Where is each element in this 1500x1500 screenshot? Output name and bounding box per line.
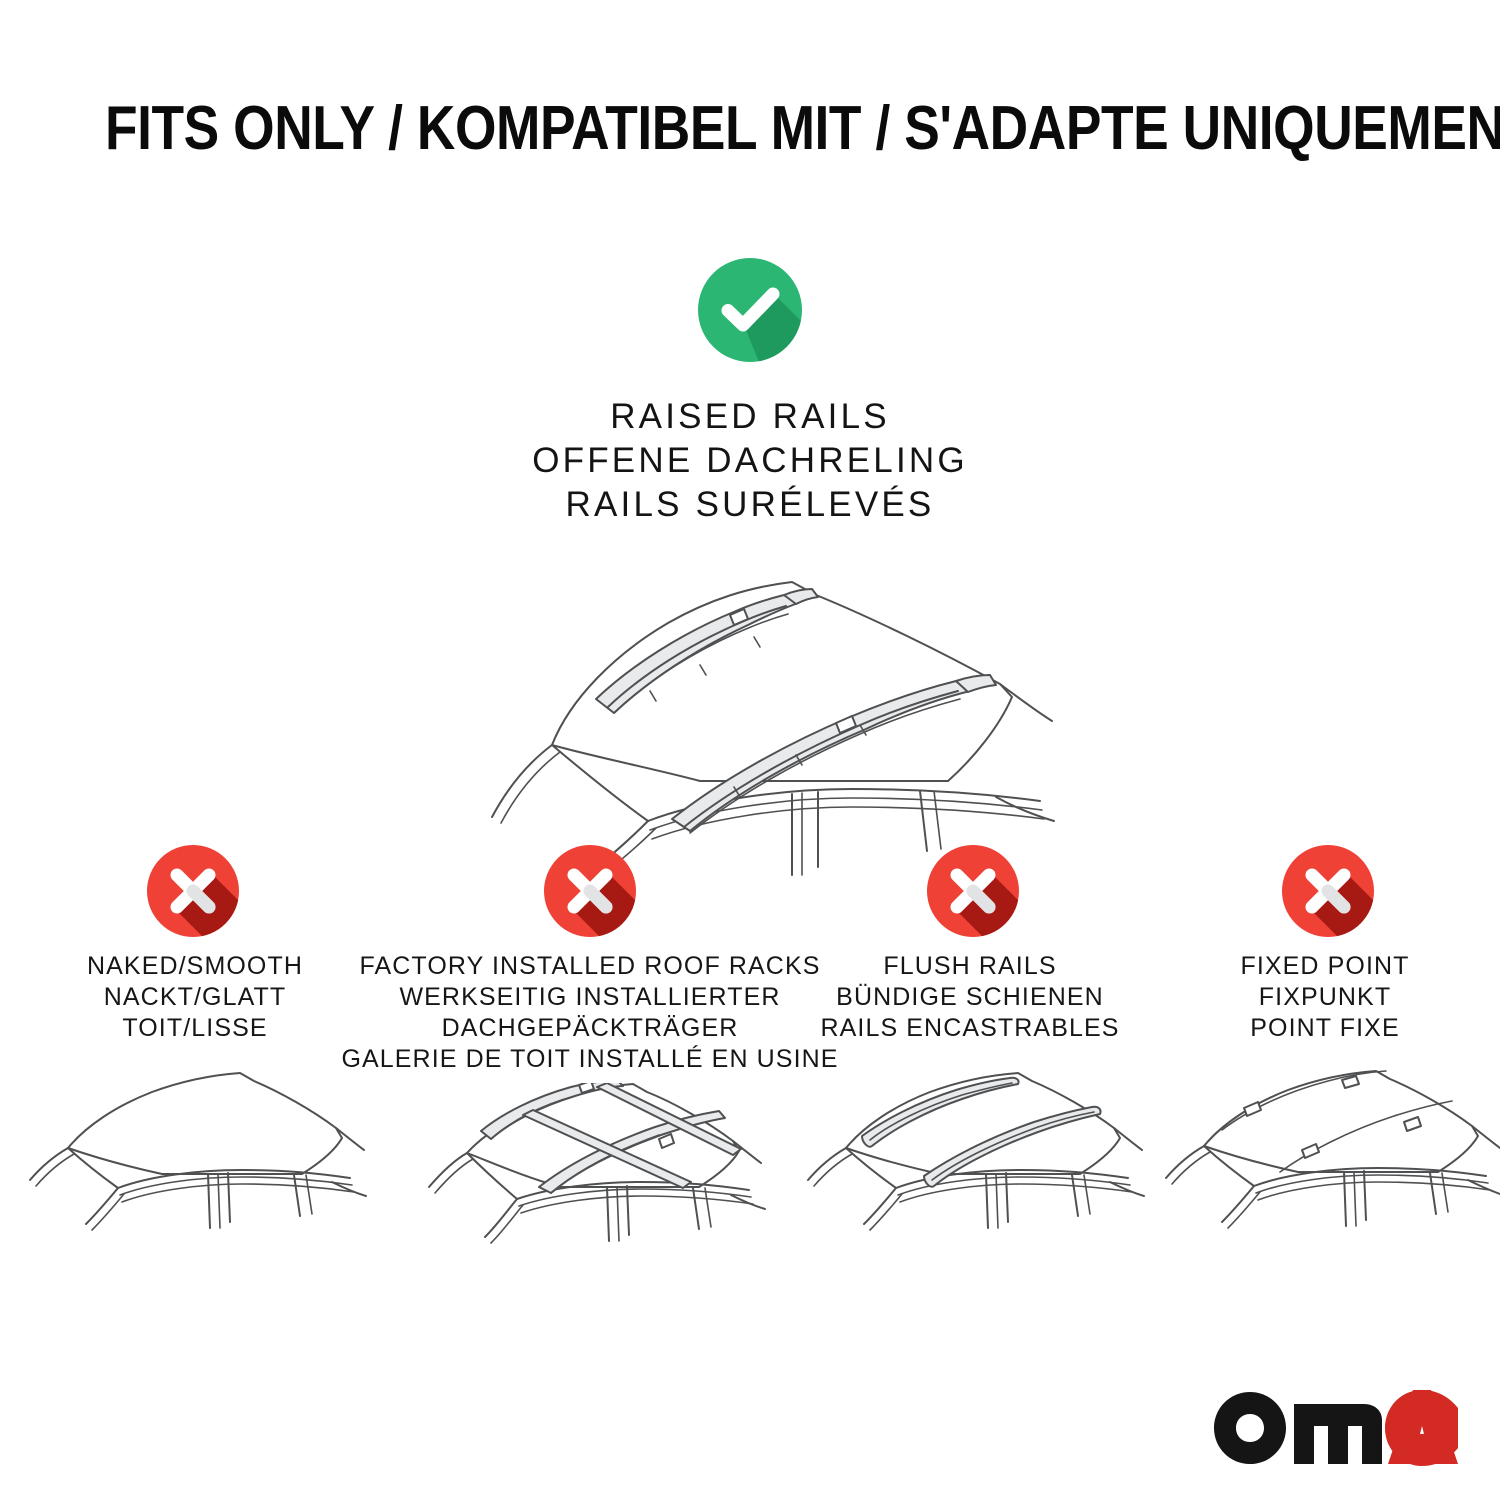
label-en: FIXED POINT [1240,951,1409,982]
car-roof-flush-rails-illustration [790,1068,1150,1298]
label-fr: TOIT/LISSE [87,1013,303,1044]
label-en: FACTORY INSTALLED ROOF RACKS [341,951,838,982]
compatible-label-en: RAISED RAILS [0,395,1500,439]
label-fr: RAILS ENCASTRABLES [820,1013,1119,1044]
incompatible-item-naked-smooth: NAKED/SMOOTH NACKT/GLATT TOIT/LISSE [0,845,390,1294]
label-de: BÜNDIGE SCHIENEN [820,982,1119,1013]
fixed-point-labels: FIXED POINT FIXPUNKT POINT FIXE [1240,951,1409,1044]
label-en: FLUSH RAILS [820,951,1119,982]
compatible-label-fr: RAILS SURÉLEVÉS [0,483,1500,527]
label-de-2: DACHGEPÄCKTRÄGER [341,1013,838,1044]
label-fr: POINT FIXE [1240,1013,1409,1044]
compatible-label-de: OFFENE DACHRELING [0,439,1500,483]
x-circle-icon [544,845,636,937]
x-circle-icon [927,845,1019,937]
car-roof-with-raised-rails-illustration [0,549,1500,879]
x-circle-icon [1282,845,1374,937]
car-roof-fixed-point-illustration [1152,1068,1500,1298]
label-de: FIXPUNKT [1240,982,1409,1013]
compatible-section: RAISED RAILS OFFENE DACHRELING RAILS SUR… [0,258,1500,879]
flush-rails-labels: FLUSH RAILS BÜNDIGE SCHIENEN RAILS ENCAS… [820,951,1119,1044]
check-circle-icon [698,258,802,362]
page-title: FITS ONLY / KOMPATIBEL MIT / S'ADAPTE UN… [105,98,1395,160]
label-fr: GALERIE DE TOIT INSTALLÉ EN USINE [341,1044,838,1075]
incompatible-item-fixed-point: FIXED POINT FIXPUNKT POINT FIXE [1150,845,1500,1298]
label-en: NAKED/SMOOTH [87,951,303,982]
factory-roof-racks-labels: FACTORY INSTALLED ROOF RACKS WERKSEITIG … [341,951,838,1075]
compatible-labels: RAISED RAILS OFFENE DACHRELING RAILS SUR… [0,395,1500,527]
incompatible-section: NAKED/SMOOTH NACKT/GLATT TOIT/LISSE [0,845,1500,1313]
car-roof-factory-installed-roof-racks-illustration [411,1083,771,1313]
incompatible-item-flush-rails: FLUSH RAILS BÜNDIGE SCHIENEN RAILS ENCAS… [790,845,1150,1298]
incompatible-item-factory-roof-racks: FACTORY INSTALLED ROOF RACKS WERKSEITIG … [390,845,790,1313]
omac-logo [1212,1386,1462,1472]
car-roof-naked-smooth-illustration [12,1064,372,1294]
naked-smooth-labels: NAKED/SMOOTH NACKT/GLATT TOIT/LISSE [87,951,303,1044]
header: FITS ONLY / KOMPATIBEL MIT / S'ADAPTE UN… [0,98,1500,160]
x-circle-icon [147,845,239,937]
label-de: NACKT/GLATT [87,982,303,1013]
label-de-1: WERKSEITIG INSTALLIERTER [341,982,838,1013]
